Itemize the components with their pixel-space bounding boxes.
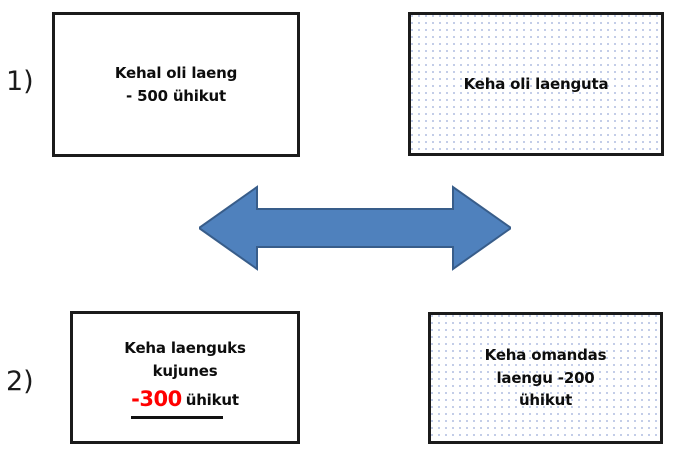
row-label-1: 1) [6,68,34,95]
blank-underline [131,416,223,419]
fill-in-blank: -300ühikut [131,383,239,418]
box-row2-left: Keha laenguks kujunes -300ühikut [70,311,300,444]
double-headed-arrow-icon [199,185,511,271]
box-row1-left: Kehal oli laeng - 500 ühikut [52,12,300,157]
box-row1-right-text: Keha oli laenguta [456,73,617,96]
blank-field[interactable]: -300 [131,383,182,418]
box-row1-left-text: Kehal oli laeng - 500 ühikut [107,62,245,108]
box-row2-right-text: Keha omandas laengu -200 ühikut [477,344,615,412]
diagram-canvas: 1) Kehal oli laeng - 500 ühikut Keha oli… [0,0,677,466]
box-row2-right-line1: Keha omandas [485,346,607,364]
box-row2-right-line2: laengu -200 [496,369,594,387]
box-row2-right-line3: ühikut [519,391,572,409]
box-row2-right: Keha omandas laengu -200 ühikut [428,312,663,444]
row-label-2: 2) [6,368,34,395]
blank-unit-label: ühikut [186,391,239,409]
box-row2-left-text: Keha laenguks kujunes -300ühikut [116,337,253,418]
box-row2-left-line2: kujunes [153,362,218,380]
box-row1-left-line1: Kehal oli laeng [115,64,237,82]
box-row1-left-line2: - 500 ühikut [126,87,226,105]
box-row1-right-line1: Keha oli laenguta [464,75,609,93]
blank-answer-value: -300 [131,387,182,411]
box-row1-right: Keha oli laenguta [408,12,664,156]
box-row2-left-line1: Keha laenguks [124,339,245,357]
